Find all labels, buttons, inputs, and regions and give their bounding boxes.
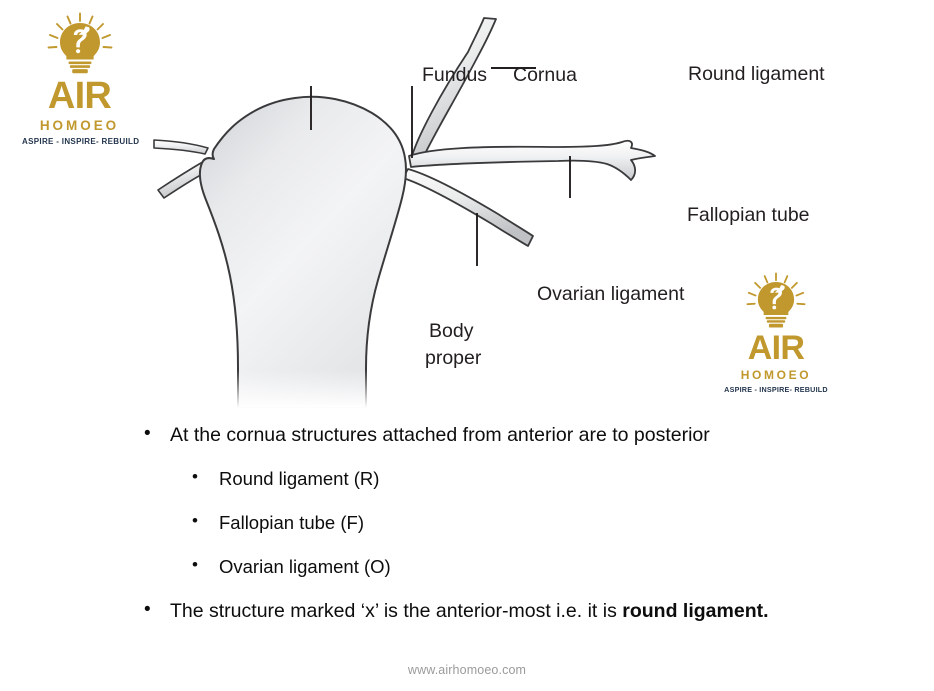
brand-wordmark: AIR bbox=[722, 331, 830, 365]
label-fundus: Fundus bbox=[422, 66, 487, 86]
bullet-marker: • bbox=[144, 600, 170, 619]
label-ovarian-ligament: Ovarian ligament bbox=[537, 285, 684, 305]
brand-logo-secondary: AIR HOMOEO ASPIRE - INSPIRE- REBUILD bbox=[722, 272, 830, 393]
footer-website-url: www.airhomoeo.com bbox=[0, 663, 934, 677]
list-item-conclusion: • The structure marked ‘x’ is the anteri… bbox=[0, 600, 934, 644]
label-body-proper-line1: Body bbox=[429, 322, 473, 342]
list-item-text: At the cornua structures attached from a… bbox=[170, 424, 934, 446]
label-body-proper-line2: proper bbox=[425, 349, 481, 369]
slide-bullet-list: • At the cornua structures attached from… bbox=[0, 424, 934, 644]
list-item-text: Round ligament (R) bbox=[219, 468, 934, 489]
list-item-text: The structure marked ‘x’ is the anterior… bbox=[170, 600, 934, 622]
bullet-marker: • bbox=[144, 424, 170, 443]
brand-tagline: ASPIRE - INSPIRE- REBUILD bbox=[722, 386, 830, 393]
bullet-marker: • bbox=[192, 468, 219, 485]
list-item: • Ovarian ligament (O) bbox=[0, 556, 934, 600]
conclusion-prefix: The structure marked ‘x’ is the anterior… bbox=[170, 600, 622, 622]
brand-logo-primary: AIR HOMOEO ASPIRE - INSPIRE- REBUILD bbox=[22, 12, 137, 146]
label-round-ligament: Round ligament bbox=[688, 65, 825, 85]
label-cornua: Cornua bbox=[513, 66, 577, 86]
list-item: • At the cornua structures attached from… bbox=[0, 424, 934, 468]
label-fallopian-tube: Fallopian tube bbox=[687, 206, 810, 226]
bullet-marker: • bbox=[192, 556, 219, 573]
lightbulb-question-icon bbox=[737, 272, 815, 330]
brand-subword: HOMOEO bbox=[22, 119, 137, 133]
brand-tagline: ASPIRE - INSPIRE- REBUILD bbox=[22, 138, 137, 146]
bullet-marker: • bbox=[192, 512, 219, 529]
list-item: • Round ligament (R) bbox=[0, 468, 934, 512]
list-item: • Fallopian tube (F) bbox=[0, 512, 934, 556]
brand-subword: HOMOEO bbox=[722, 369, 830, 381]
brand-wordmark: AIR bbox=[22, 77, 137, 115]
conclusion-emphasis: round ligament. bbox=[622, 600, 768, 622]
lightbulb-question-icon bbox=[37, 12, 123, 76]
list-item-text: Fallopian tube (F) bbox=[219, 512, 934, 533]
uterus-anatomy-diagram: Fundus Cornua Round ligament Fallopian t… bbox=[150, 8, 710, 408]
list-item-text: Ovarian ligament (O) bbox=[219, 556, 934, 577]
